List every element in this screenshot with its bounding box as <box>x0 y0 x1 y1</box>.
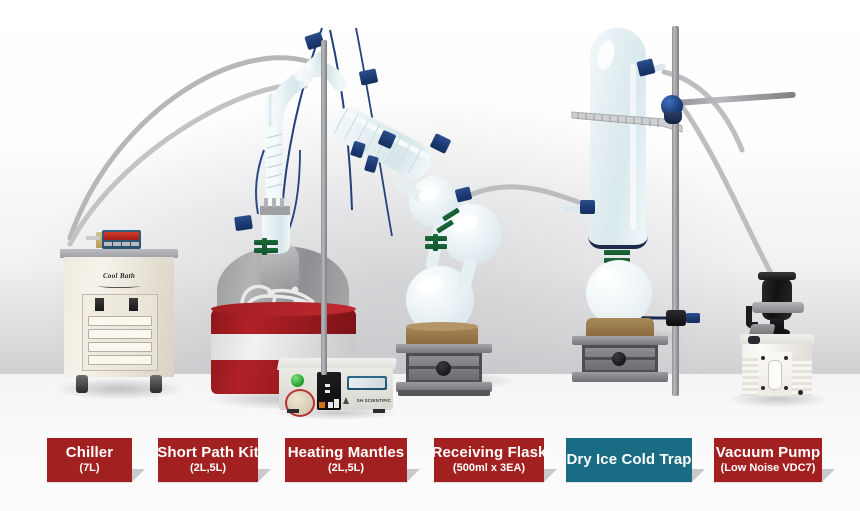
chiller-grille <box>82 294 158 371</box>
diagram-canvas: Cool Bath <box>0 0 860 511</box>
stand-clamp-lower[interactable] <box>666 310 686 326</box>
label-title: Heating Mantles <box>288 445 405 461</box>
keck-clip-green <box>433 234 438 251</box>
trap-collection-flask <box>586 260 652 326</box>
label-subtitle: (2L,5L) <box>190 462 226 475</box>
dry-ice-cold-trap[interactable] <box>572 28 682 358</box>
label-title: Receiving Flask <box>432 445 547 461</box>
equipment-label-bar: Chiller (7L) Short Path Kit (2L,5L) Heat… <box>0 438 860 496</box>
mantle-controller-unit[interactable]: SH SCIENTIFIC <box>277 358 395 414</box>
clamp-collar <box>664 112 682 124</box>
label-title: Chiller <box>66 445 113 461</box>
keck-clip-green <box>604 250 630 255</box>
label-subtitle: (7L) <box>79 462 99 475</box>
lab-jack-knob[interactable] <box>612 352 626 366</box>
pump-handle[interactable] <box>752 302 804 313</box>
lab-jack[interactable] <box>572 336 668 386</box>
chiller-caster <box>76 375 88 393</box>
center-support-rod <box>321 40 327 375</box>
chiller-brand-label: Cool Bath <box>64 272 174 280</box>
keck-clip-green <box>262 238 267 255</box>
label-receiving-flask[interactable]: Receiving Flask (500ml x 3EA) <box>434 438 544 482</box>
joint-clip-blue <box>234 215 253 231</box>
receiving-flask-assembly[interactable] <box>396 172 514 402</box>
temperature-display[interactable] <box>102 230 141 249</box>
clamp-thumbscrew[interactable] <box>686 313 700 323</box>
mantle-white-band <box>211 334 356 360</box>
label-dry-ice-cold-trap[interactable]: Dry Ice Cold Trap <box>566 438 692 482</box>
joint-clip-blue <box>636 58 655 76</box>
label-heating-mantles[interactable]: Heating Mantles (2L,5L) <box>285 438 407 482</box>
chiller-switch[interactable] <box>129 298 138 311</box>
chiller-port-neck <box>86 236 100 240</box>
label-short-path-kit[interactable]: Short Path Kit (2L,5L) <box>158 438 258 482</box>
label-subtitle: (500ml x 3EA) <box>453 462 525 475</box>
controller-panel <box>317 372 341 410</box>
power-indicator-light <box>291 374 304 387</box>
label-chiller[interactable]: Chiller (7L) <box>47 438 132 482</box>
chiller-caster <box>150 375 162 393</box>
label-vacuum-pump[interactable]: Vacuum Pump (Low Noise VDC7) <box>714 438 822 482</box>
joint-clip-blue <box>580 200 595 214</box>
exhaust-filter <box>762 278 792 320</box>
label-title: Dry Ice Cold Trap <box>566 452 691 468</box>
label-subtitle: (Low Noise VDC7) <box>721 462 816 475</box>
label-title: Short Path Kit <box>157 445 258 461</box>
chiller-unit[interactable]: Cool Bath <box>60 228 178 398</box>
label-subtitle: (2L,5L) <box>328 462 364 475</box>
vacuum-pump-unit[interactable] <box>732 272 822 404</box>
digital-display <box>347 376 387 390</box>
retort-stand-rod <box>672 26 679 396</box>
controller-brand-label: SH SCIENTIFIC <box>341 398 391 403</box>
label-title: Vacuum Pump <box>716 445 820 461</box>
lab-jack[interactable] <box>396 344 492 396</box>
chiller-switch[interactable] <box>95 298 104 311</box>
lab-jack-knob[interactable] <box>436 361 451 376</box>
